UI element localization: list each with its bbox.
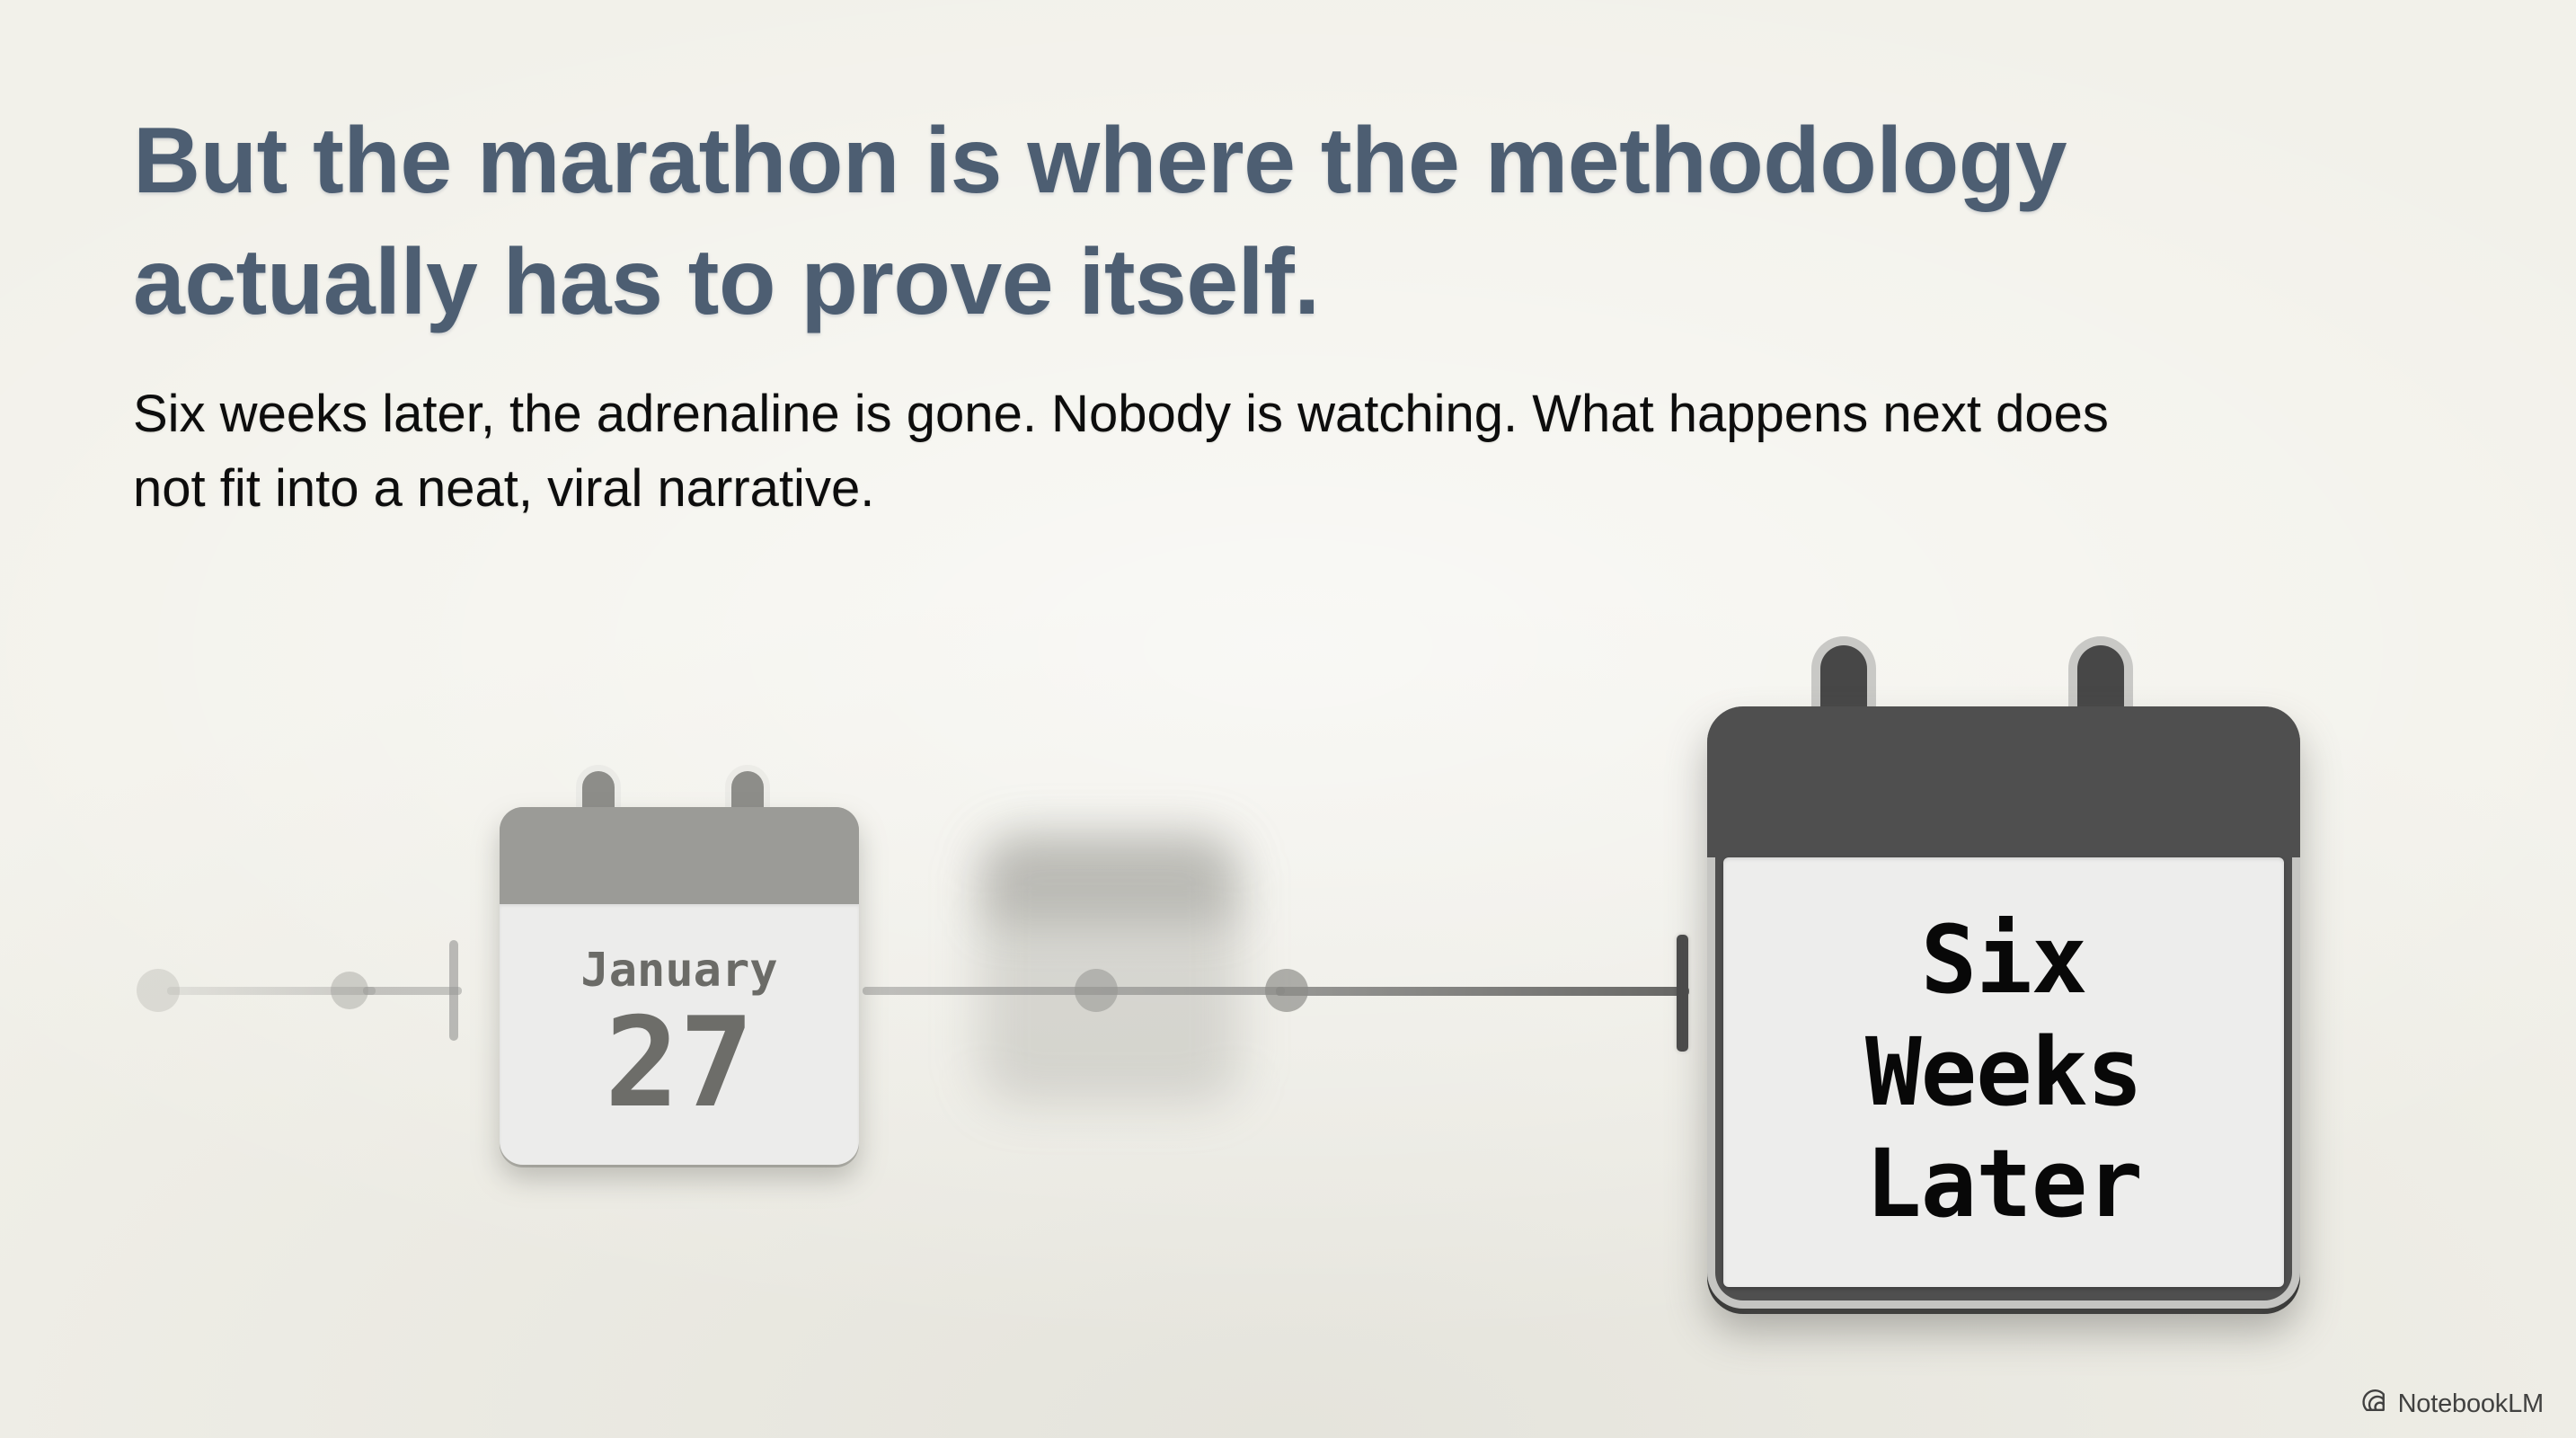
slide-text-block: But the marathon is where the methodolog… — [133, 101, 2289, 526]
timeline-dot-icon — [1075, 969, 1118, 1012]
calendar-start-page: January 27 — [500, 904, 859, 1165]
timeline-start-cap-icon — [449, 940, 458, 1041]
calendar-end-line-3: Later — [1865, 1128, 2142, 1240]
timeline-segment-4 — [1276, 987, 1689, 996]
calendar-month-label: January — [580, 944, 777, 998]
calendar-day-label: 27 — [605, 1001, 754, 1125]
timeline-dot-icon — [1265, 969, 1308, 1012]
calendar-start-header-band — [500, 807, 859, 904]
timeline-segment-2 — [363, 987, 462, 995]
ghost-calendar-band-blur-icon — [985, 838, 1235, 924]
timeline-end-cap-icon — [1677, 935, 1688, 1052]
page-title: But the marathon is where the methodolog… — [133, 101, 2226, 343]
calendar-end-line-2: Weeks — [1865, 1016, 2142, 1129]
slide-subtitle: Six weeks later, the adrenaline is gone.… — [133, 377, 2182, 526]
timeline-dot-icon — [137, 969, 180, 1012]
calendar-start-body: January 27 — [500, 807, 859, 1165]
timeline-segment-3 — [863, 987, 1285, 995]
timeline-dot-icon — [331, 972, 368, 1009]
illustration-stage: January 27 Six Weeks Later — [0, 575, 2576, 1366]
notebooklm-watermark-label: NotebookLM — [2398, 1389, 2544, 1419]
calendar-end-page: Six Weeks Later — [1723, 857, 2284, 1287]
calendar-end-header-band — [1707, 706, 2300, 857]
calendar-end-line-1: Six — [1921, 904, 2087, 1016]
notebooklm-watermark: NotebookLM — [2362, 1389, 2544, 1420]
calendar-start-icon: January 27 — [487, 755, 872, 1177]
calendar-end-body: Six Weeks Later — [1707, 706, 2300, 1309]
notebooklm-spiral-icon — [2362, 1389, 2389, 1420]
calendar-end-icon: Six Weeks Later — [1689, 629, 2318, 1330]
